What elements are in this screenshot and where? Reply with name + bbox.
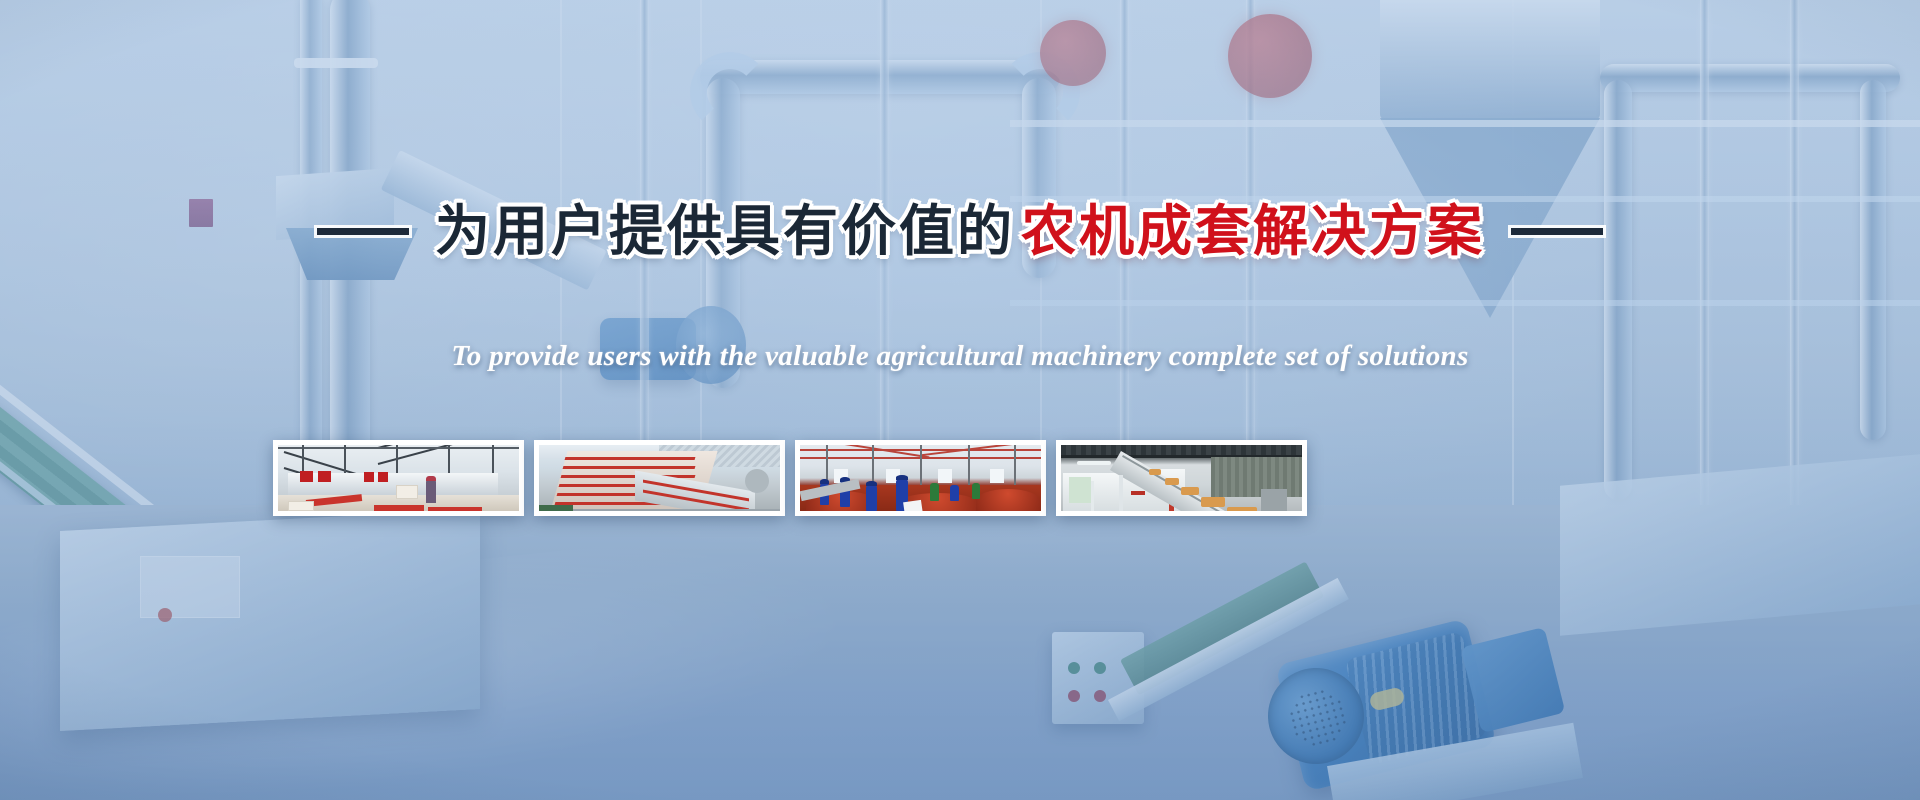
headline-rule-left (317, 228, 409, 235)
background-photo (0, 0, 1920, 800)
thumbnail-item[interactable] (1056, 440, 1307, 516)
page-title: 为用户提供具有价值的农机成套解决方案 (435, 203, 1485, 261)
thumbnail-item[interactable] (273, 440, 524, 516)
thumbnail-photo-3 (800, 445, 1041, 511)
headline-text-red: 农机成套解决方案 (1021, 199, 1485, 263)
headline-row: 为用户提供具有价值的农机成套解决方案 (0, 203, 1920, 261)
bg-vignette (0, 0, 1920, 800)
thumbnail-photo-2 (539, 445, 780, 511)
headline-text-dark: 为用户提供具有价值的 (435, 199, 1015, 263)
thumbnail-photo-4 (1061, 445, 1302, 511)
thumbnail-photo-1 (278, 445, 519, 511)
headline-rule-right (1511, 228, 1603, 235)
thumbnail-item[interactable] (534, 440, 785, 516)
thumbnail-strip (273, 440, 1307, 516)
thumbnail-item[interactable] (795, 440, 1046, 516)
hero-banner: 为用户提供具有价值的农机成套解决方案 To provide users with… (0, 0, 1920, 800)
headline-subtitle: To provide users with the valuable agric… (0, 340, 1920, 373)
